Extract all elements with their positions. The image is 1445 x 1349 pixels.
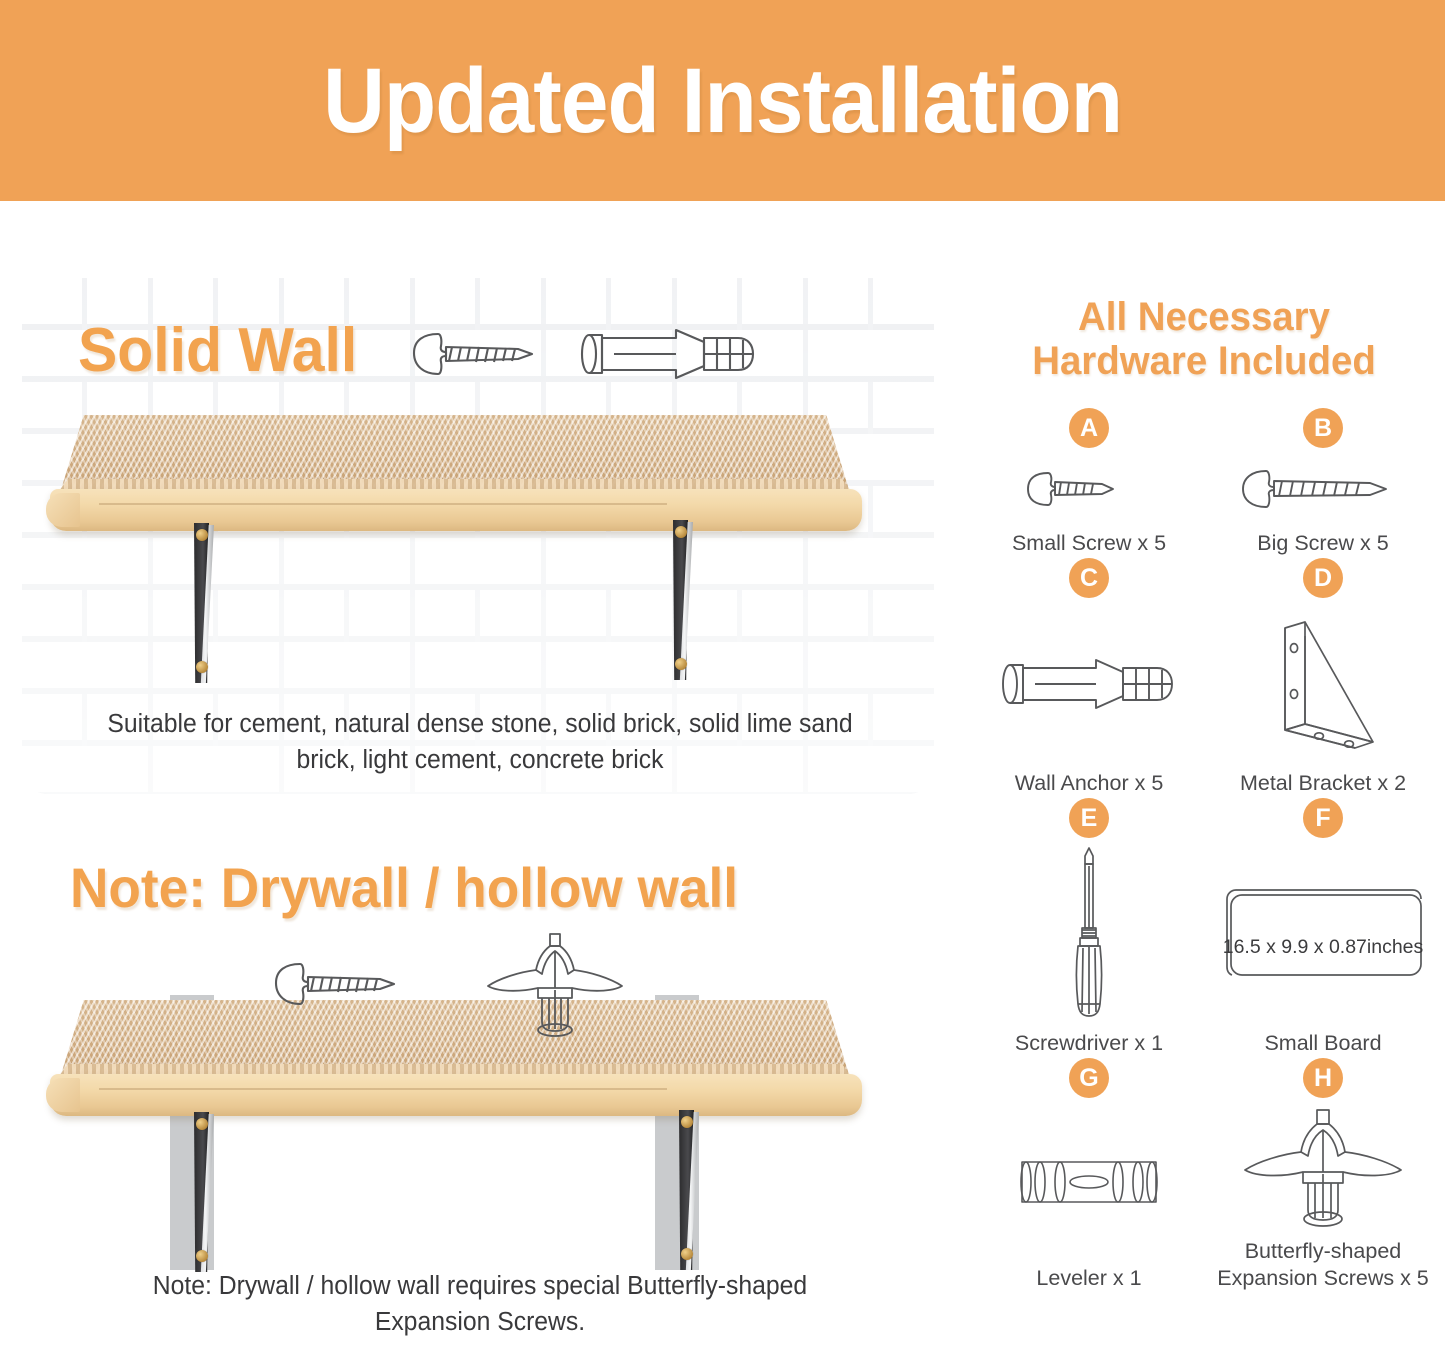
infographic-page: Updated Installation Solid Wall xyxy=(0,0,1445,1349)
wood-shelf-edge xyxy=(50,489,862,531)
page-title: Updated Installation xyxy=(323,55,1122,147)
metal-bracket-left xyxy=(186,1112,222,1272)
bracket-screw-top xyxy=(196,1118,208,1130)
wall-anchor-icon xyxy=(980,598,1198,770)
hardware-label-screwdriver: Screwdriver x 1 xyxy=(1015,1030,1163,1058)
hardware-item-big-screw: B Big Screw x 5 xyxy=(1214,408,1432,558)
hardware-badge-b: B xyxy=(1303,408,1343,448)
hardware-label-butterfly-expansion-screws: Butterfly-shaped Expansion Screws x 5 xyxy=(1217,1238,1429,1293)
hardware-badge-g: G xyxy=(1069,1058,1109,1098)
metal-bracket-right xyxy=(665,520,701,680)
hardware-heading: All Necessary Hardware Included xyxy=(997,295,1412,383)
big-screw-icon xyxy=(1214,448,1432,530)
wood-shelf-edge xyxy=(50,1074,862,1116)
hardware-item-wall-anchor: C Wall Anchor x 5 xyxy=(980,558,1198,798)
leveler-icon xyxy=(980,1098,1198,1265)
butterfly-expansion-screw-icon xyxy=(1214,1098,1432,1238)
hardware-badge-f: F xyxy=(1303,798,1343,838)
shelf-product-drywall xyxy=(46,1000,876,1270)
metal-bracket-right xyxy=(671,1110,707,1270)
bracket-screw-bottom xyxy=(196,661,208,673)
bracket-screw-bottom xyxy=(675,658,687,670)
screwdriver-icon xyxy=(980,838,1198,1030)
hardware-label-wall-anchor: Wall Anchor x 5 xyxy=(1015,770,1164,798)
small-screw-icon xyxy=(980,448,1198,530)
solid-wall-title: Solid Wall xyxy=(78,320,357,382)
hardware-item-leveler: G Leveler x 1 xyxy=(980,1058,1198,1293)
hardware-badge-h: H xyxy=(1303,1058,1343,1098)
hardware-grid: A Small Screw x 5 B xyxy=(980,408,1432,1338)
bracket-screw-bottom xyxy=(196,1250,208,1262)
metal-bracket-icon xyxy=(1214,598,1432,770)
hardware-label-leveler: Leveler x 1 xyxy=(1036,1265,1141,1293)
hardware-label-line1: Butterfly-shaped xyxy=(1217,1238,1429,1266)
hardware-item-small-screw: A Small Screw x 5 xyxy=(980,408,1198,558)
bracket-screw-top xyxy=(196,529,208,541)
drywall-heading: Note: Drywall / hollow wall xyxy=(70,860,773,916)
hardware-label-big-screw: Big Screw x 5 xyxy=(1257,530,1388,558)
hardware-label-line2: Expansion Screws x 5 xyxy=(1217,1265,1429,1293)
header-band: Updated Installation xyxy=(0,0,1445,201)
hardware-item-screwdriver: E Screwdriver x 1 xyxy=(980,798,1198,1058)
hardware-label-small-screw: Small Screw x 5 xyxy=(1012,530,1166,558)
wall-anchor-icon xyxy=(580,328,758,380)
bracket-screw-bottom xyxy=(681,1248,693,1260)
solid-wall-caption: Suitable for cement, natural dense stone… xyxy=(75,706,886,778)
hardware-item-small-board: F 16.5 x 9.9 x 0.87inches Small Board xyxy=(1214,798,1432,1058)
hardware-badge-a: A xyxy=(1069,408,1109,448)
hardware-item-butterfly-expansion-screws: H Butterfly-sh xyxy=(1214,1058,1432,1293)
screw-icon xyxy=(270,958,420,1010)
shelf-product-solid-wall xyxy=(46,415,876,680)
drywall-icon-row xyxy=(270,930,630,1038)
drywall-caption: Note: Drywall / hollow wall requires spe… xyxy=(94,1268,866,1340)
screw-icon xyxy=(408,328,558,380)
solid-wall-heading: Solid Wall xyxy=(78,320,372,382)
hardware-item-metal-bracket: D Metal Bracket x 2 xyxy=(1214,558,1432,798)
bracket-screw-top xyxy=(681,1116,693,1128)
hardware-badge-d: D xyxy=(1303,558,1343,598)
wood-shelf-left-cap xyxy=(46,493,80,527)
hardware-heading-line2: Hardware Included xyxy=(997,339,1412,383)
wood-shelf-left-cap xyxy=(46,1078,80,1112)
solid-wall-icon-row xyxy=(408,328,758,380)
board-icon: 16.5 x 9.9 x 0.87inches xyxy=(1214,838,1432,1030)
hardware-badge-c: C xyxy=(1069,558,1109,598)
hardware-badge-e: E xyxy=(1069,798,1109,838)
drywall-title: Note: Drywall / hollow wall xyxy=(70,860,738,916)
bracket-screw-top xyxy=(675,526,687,538)
hardware-label-metal-bracket: Metal Bracket x 2 xyxy=(1240,770,1406,798)
metal-bracket-left xyxy=(186,523,222,683)
butterfly-expansion-screw-icon xyxy=(480,930,630,1038)
hardware-label-small-board: Small Board xyxy=(1264,1030,1381,1058)
hardware-heading-line1: All Necessary xyxy=(997,295,1412,339)
